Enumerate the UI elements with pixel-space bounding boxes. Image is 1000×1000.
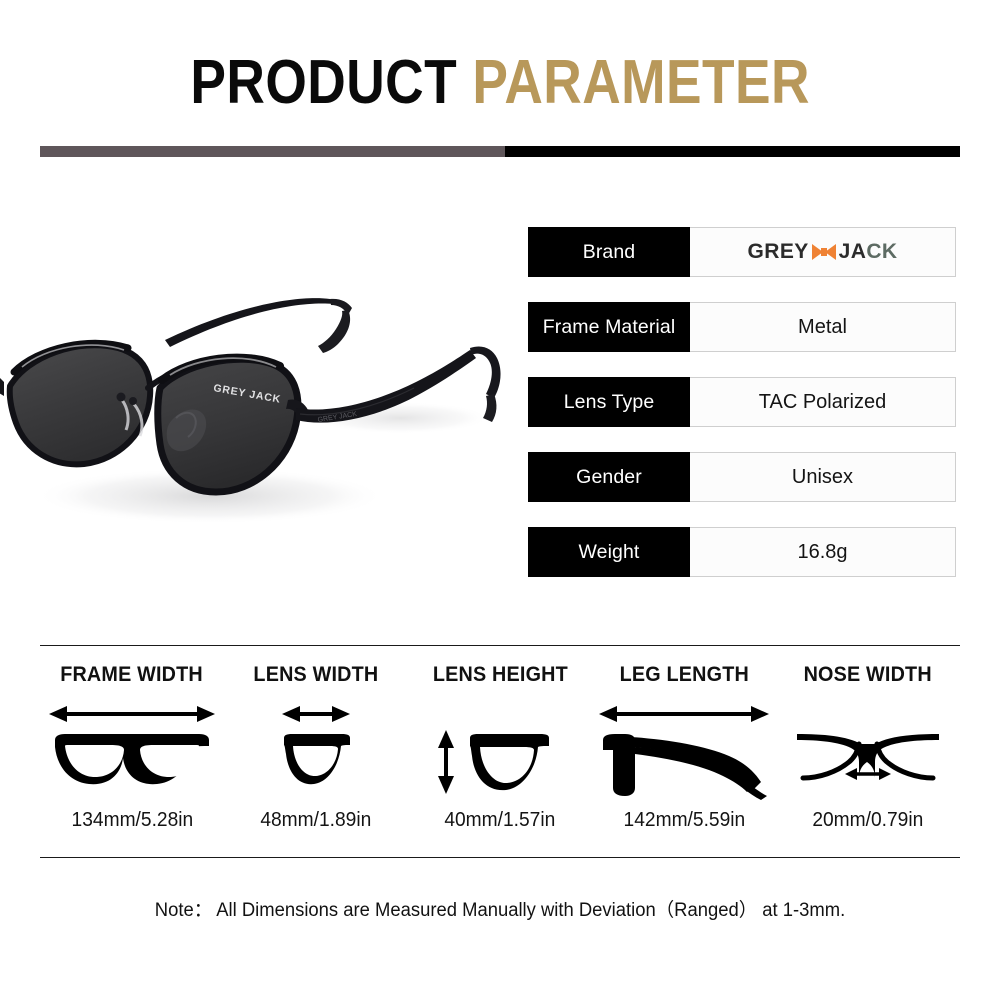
page-title: PRODUCT PARAMETER xyxy=(0,52,1000,114)
single-lens-icon xyxy=(256,695,376,805)
dimension-leg-length: LEG LENGTH 142mm/5.59in xyxy=(592,662,776,832)
dimension-value: 134mm/5.28in xyxy=(71,809,193,832)
spec-label-gender: Gender xyxy=(528,452,690,502)
spec-value-gender: Unisex xyxy=(690,452,956,502)
title-divider-right-segment xyxy=(505,146,960,157)
dimensions-row: FRAME WIDTH 134mm/5.28in LENS WIDTH xyxy=(40,662,960,832)
lens-height-icon xyxy=(430,695,570,805)
table-row: Lens Type TAC Polarized xyxy=(528,377,956,427)
brand-logo-grey: GREY xyxy=(748,240,809,264)
dimension-title: LENS HEIGHT xyxy=(432,662,567,687)
dimension-value: 48mm/1.89in xyxy=(261,809,372,832)
brand-logo-ck: CK xyxy=(866,240,897,264)
dimension-title: LENS WIDTH xyxy=(254,662,379,687)
table-row: Brand GREYJACK xyxy=(528,227,956,277)
dimension-value: 20mm/0.79in xyxy=(813,809,924,832)
table-row: Frame Material Metal xyxy=(528,302,956,352)
table-row: Weight 16.8g xyxy=(528,527,956,577)
page-title-accent: PARAMETER xyxy=(472,48,810,117)
spec-label-frame-material: Frame Material xyxy=(528,302,690,352)
dimension-title: NOSE WIDTH xyxy=(804,662,932,687)
dimension-nose-width: NOSE WIDTH 20mm/0.79in xyxy=(776,662,960,832)
dimension-frame-width: FRAME WIDTH 134mm/5.28in xyxy=(40,662,224,832)
dimensions-bottom-divider xyxy=(40,857,960,858)
temple-arm-icon xyxy=(597,695,772,805)
product-image-sunglasses: GREY JACK GREY JACK xyxy=(0,268,530,530)
spec-value-lens-type: TAC Polarized xyxy=(690,377,956,427)
spec-label-brand: Brand xyxy=(528,227,690,277)
spec-value-weight: 16.8g xyxy=(690,527,956,577)
dimension-value: 142mm/5.59in xyxy=(623,809,745,832)
nose-bridge-icon xyxy=(793,695,943,805)
dimension-title: LEG LENGTH xyxy=(619,662,748,687)
spec-label-weight: Weight xyxy=(528,527,690,577)
table-row: Gender Unisex xyxy=(528,452,956,502)
measurement-note: Note： All Dimensions are Measured Manual… xyxy=(15,895,985,922)
dimension-title: FRAME WIDTH xyxy=(61,662,204,687)
title-divider xyxy=(40,146,960,157)
page-title-primary: PRODUCT xyxy=(190,48,457,117)
glasses-front-icon xyxy=(47,695,217,805)
dimensions-top-divider xyxy=(40,645,960,646)
dimension-lens-height: LENS HEIGHT 40mm/1.57in xyxy=(408,662,592,832)
title-divider-left-segment xyxy=(40,146,505,157)
spec-value-frame-material: Metal xyxy=(690,302,956,352)
dimension-value: 40mm/1.57in xyxy=(445,809,556,832)
bowtie-icon xyxy=(811,243,837,261)
brand-logo: GREYJACK xyxy=(748,240,898,264)
spec-value-brand: GREYJACK xyxy=(690,227,956,277)
spec-label-lens-type: Lens Type xyxy=(528,377,690,427)
brand-logo-ja: JA xyxy=(839,240,867,264)
dimension-lens-width: LENS WIDTH 48mm/1.89in xyxy=(224,662,408,832)
product-spec-table: Brand GREYJACK Frame Material Metal Lens… xyxy=(528,227,956,577)
